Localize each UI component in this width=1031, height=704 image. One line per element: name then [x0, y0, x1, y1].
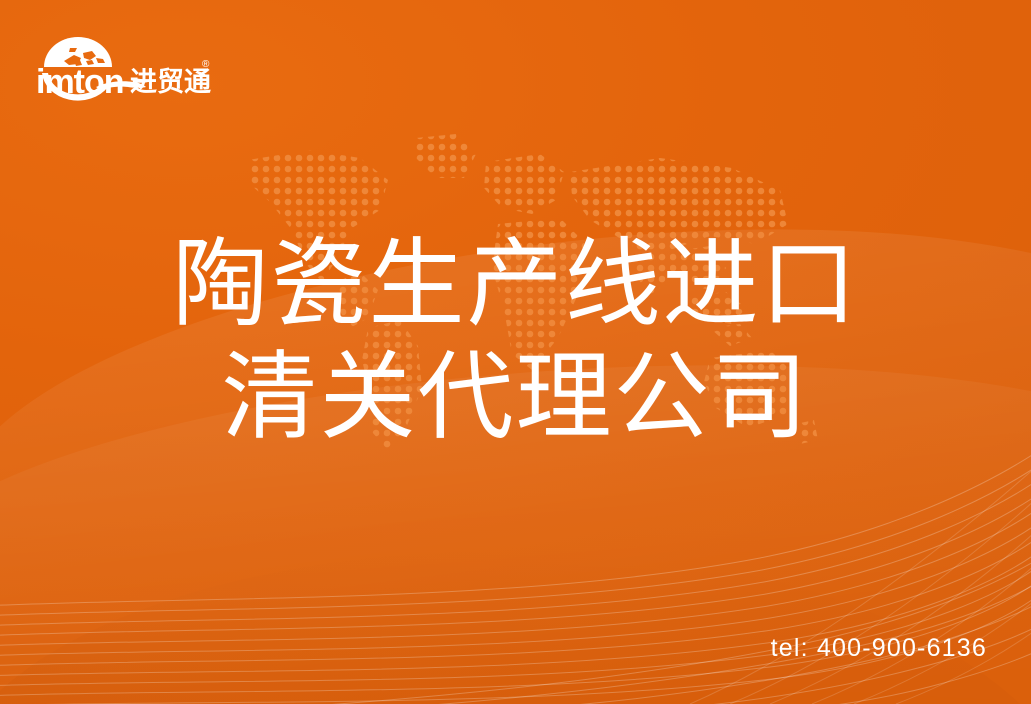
imton-logo[interactable]: imton 进贸通 ®	[34, 27, 214, 105]
headline: 陶瓷生产线进口 清关代理公司	[0, 228, 1031, 454]
headline-line-2: 清关代理公司	[0, 341, 1031, 454]
headline-line-1: 陶瓷生产线进口	[0, 228, 1031, 341]
logo-wordmark: imton	[36, 63, 124, 101]
registered-trademark-icon: ®	[202, 59, 210, 70]
promo-banner: imton 进贸通 ® 陶瓷生产线进口 清关代理公司 tel: 400-900-…	[0, 0, 1031, 704]
logo-chinese-name: 进贸通	[130, 67, 211, 97]
contact-telephone[interactable]: tel: 400-900-6136	[771, 634, 987, 663]
